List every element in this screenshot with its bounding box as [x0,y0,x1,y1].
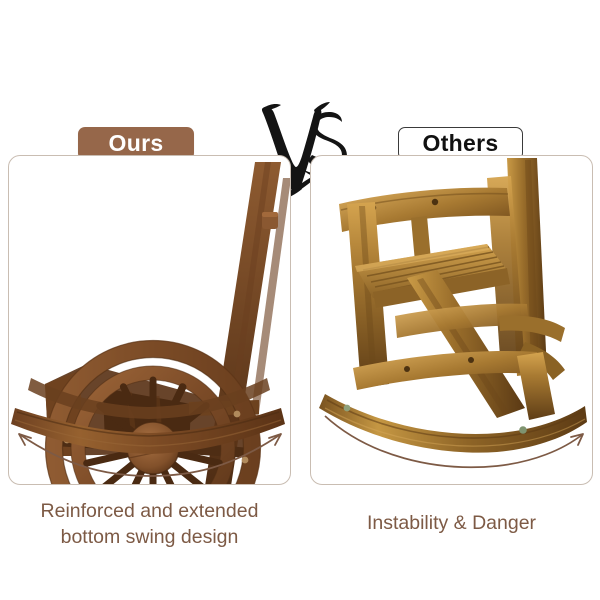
panel-ours [8,155,291,485]
caption-ours-line1: Reinforced and extended [8,498,291,524]
comparison-header: Ours Others [0,55,600,150]
caption-ours-line2: bottom swing design [8,524,291,550]
caption-others-line1: Instability & Danger [310,510,593,536]
caption-ours: Reinforced and extended bottom swing des… [8,498,291,550]
panel-others [310,155,593,485]
ours-product-photo [9,156,290,484]
caption-others: Instability & Danger [310,510,593,536]
others-badge-label: Others [423,132,499,155]
others-product-photo [311,156,592,484]
ours-badge-label: Ours [109,132,164,155]
